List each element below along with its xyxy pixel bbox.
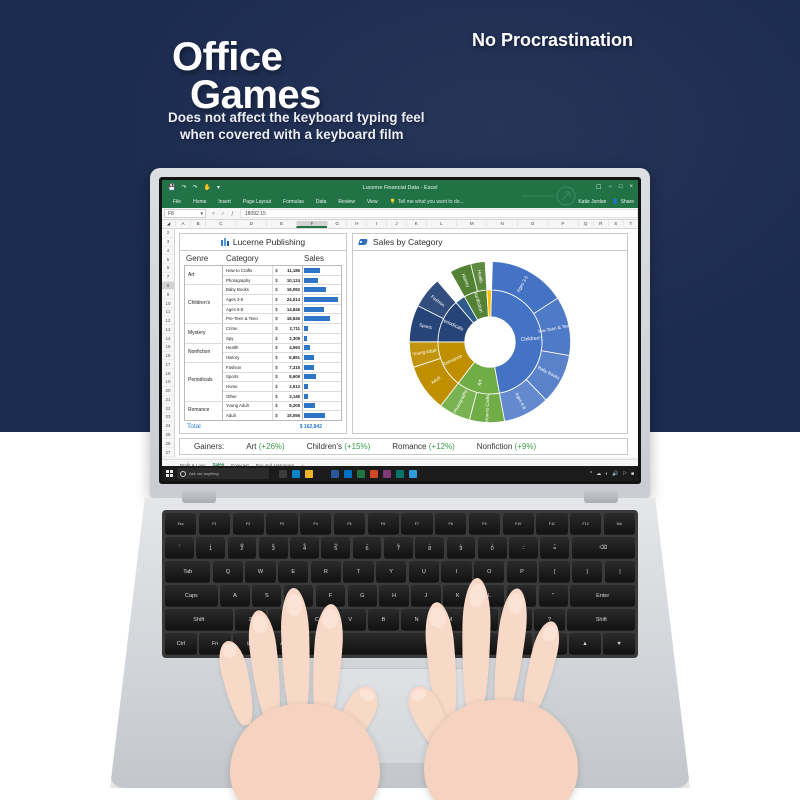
row-header-4[interactable]: 4 <box>162 247 174 256</box>
publishing-table-card: Lucerne Publishing Genre Category Sales … <box>179 233 347 434</box>
cell-genre: Periodicals <box>185 363 223 398</box>
cell-sales-value: 2,711 <box>280 324 303 333</box>
column-header-genre: Genre <box>184 254 226 263</box>
task-view-icon[interactable] <box>279 470 287 478</box>
row-header-6[interactable]: 6 <box>162 264 174 273</box>
key--0[interactable]: )0 <box>478 537 507 559</box>
word-icon[interactable] <box>331 470 339 478</box>
share-label: Share <box>621 199 634 205</box>
cell-databar <box>303 411 341 420</box>
databar-fill <box>304 374 316 379</box>
laptop-lid: 💾 ↷ ↷ ✋ ▾ Lucerne Financial Data - Excel… <box>150 168 650 498</box>
sunburst-chart-area: Children'sAges 3-5Pre-Teen & TeenBaby Bo… <box>353 251 627 433</box>
databar-fill <box>304 394 308 399</box>
column-header-b[interactable]: B <box>190 221 205 226</box>
databar-fill <box>304 326 308 331</box>
cell-currency: $ <box>273 266 280 275</box>
key--7[interactable]: &7 <box>384 537 413 559</box>
taskbar-app-icons[interactable] <box>279 470 417 478</box>
cell-databar <box>303 285 341 294</box>
cell-currency: $ <box>273 382 280 391</box>
cell-currency: $ <box>273 295 280 304</box>
key--9[interactable]: (9 <box>447 537 476 559</box>
key--5[interactable]: %5 <box>321 537 350 559</box>
volume-icon[interactable]: 🔊 <box>612 471 618 477</box>
insert-function-icon[interactable]: ƒ <box>231 211 234 217</box>
databar-fill <box>304 287 326 292</box>
onenote-icon[interactable] <box>383 470 391 478</box>
cell-databar <box>303 363 341 372</box>
cell-category: How-to Crafts <box>223 266 273 275</box>
databar-fill <box>304 384 308 389</box>
key-f1[interactable]: F1 <box>199 513 230 535</box>
row-header-18[interactable]: 18 <box>162 369 174 378</box>
cell-sales-value: 2,309 <box>280 334 303 343</box>
column-header-i[interactable]: I <box>366 221 386 226</box>
total-label: Total <box>187 423 225 430</box>
key-f8[interactable]: F8 <box>435 513 466 535</box>
gainer-name: Children's <box>307 442 345 451</box>
cell-databar <box>303 266 341 275</box>
sub-copy-line-1: Does not affect the keyboard typing feel <box>168 110 425 125</box>
cell-sales-value: 4,593 <box>280 344 303 353</box>
ribbon-tab-review[interactable]: Review <box>332 199 360 205</box>
cell-sales-value: 11,186 <box>280 266 303 275</box>
key-esc[interactable]: Esc <box>165 513 196 535</box>
worksheet-body: 2345678910111213141516171819202122232425… <box>162 229 638 457</box>
ribbon-tab-page-layout[interactable]: Page Layout <box>237 199 277 205</box>
databar-fill <box>304 336 307 341</box>
laptop-device: 💾 ↷ ↷ ✋ ▾ Lucerne Financial Data - Excel… <box>110 168 690 788</box>
keyboard-number-row[interactable]: ~`!1@2#3$4%5^6&7*8(9)0_-+=⌫ <box>165 537 635 559</box>
column-header-f[interactable]: F <box>296 221 326 228</box>
total-amount: 162,842 <box>304 424 322 430</box>
sub-copy: Does not affect the keyboard typing feel… <box>168 110 425 144</box>
outlook-icon[interactable] <box>344 470 352 478</box>
row-header-12[interactable]: 12 <box>162 317 174 326</box>
key-ctrl[interactable]: Ctrl <box>165 633 197 655</box>
row-header-13[interactable]: 13 <box>162 325 174 334</box>
cell-currency: $ <box>273 392 280 401</box>
decorative-arrow-graphic <box>520 183 580 209</box>
column-header-category: Category <box>226 254 283 263</box>
cell-sales-value: 10,124 <box>280 276 303 285</box>
row-header-22[interactable]: 22 <box>162 404 174 413</box>
table-row[interactable]: ArtHow-to Crafts$11,186 <box>185 266 341 276</box>
column-header-t[interactable]: T <box>623 221 638 226</box>
column-headers[interactable]: ABCDEFGHIJKLMNOPQRST <box>175 221 638 228</box>
sales-chart-card: Sales by Category Children'sAges 3-5Pre-… <box>352 233 628 434</box>
key-caps[interactable]: Caps <box>165 585 218 607</box>
sales-table-rows: ArtHow-to Crafts$11,186Photography$10,12… <box>184 265 342 421</box>
cell-currency: $ <box>273 334 280 343</box>
column-header-a[interactable]: A <box>175 221 190 226</box>
select-all-corner[interactable]: ◢ <box>162 221 175 227</box>
row-header-17[interactable]: 17 <box>162 360 174 369</box>
row-header-8[interactable]: 8 <box>162 282 174 291</box>
cell-currency: $ <box>273 373 280 382</box>
key-del[interactable]: Del <box>604 513 635 535</box>
cell-category: Crime <box>223 324 273 333</box>
cell-databar <box>303 305 341 314</box>
file-explorer-icon[interactable] <box>305 470 313 478</box>
row-header-14[interactable]: 14 <box>162 334 174 343</box>
gainers-label: Gainers: <box>194 442 224 451</box>
gainer-item: Children's (+15%) <box>307 442 371 451</box>
gainer-item: Romance (+12%) <box>392 442 454 451</box>
cell-category: Spy <box>223 334 273 343</box>
cell-currency: $ <box>273 353 280 362</box>
row-header-5[interactable]: 5 <box>162 255 174 264</box>
formula-bar-icons[interactable]: × ✓ ƒ <box>206 211 240 217</box>
left-hand <box>218 566 428 800</box>
databar-fill <box>304 316 330 321</box>
row-header-21[interactable]: 21 <box>162 396 174 405</box>
table-row[interactable]: MysteryCrime$2,711 <box>185 324 341 334</box>
user-name-label[interactable]: Katie Jordan <box>578 199 606 205</box>
column-header-row[interactable]: ◢ ABCDEFGHIJKLMNOPQRST <box>162 220 638 229</box>
key--2[interactable]: @2 <box>228 537 257 559</box>
key-tab[interactable]: Tab <box>165 561 210 583</box>
row-header-11[interactable]: 11 <box>162 308 174 317</box>
cell-sales-value: 3,146 <box>280 392 303 401</box>
cell-currency: $ <box>273 411 280 420</box>
cell-currency: $ <box>273 276 280 285</box>
onedrive-icon[interactable]: ☁ <box>596 471 601 477</box>
key--[interactable]: ⌫ <box>572 537 635 559</box>
column-header-r[interactable]: R <box>593 221 608 226</box>
column-header-m[interactable]: M <box>456 221 486 226</box>
powerpoint-icon[interactable] <box>370 470 378 478</box>
column-header-s[interactable]: S <box>608 221 623 226</box>
databar-fill <box>304 413 325 418</box>
ribbon-right-controls[interactable]: Katie Jordan 👤 Share <box>578 199 634 205</box>
row-header-3[interactable]: 3 <box>162 238 174 247</box>
sunburst-label: How-to Crafts <box>484 394 490 423</box>
windows-taskbar[interactable]: Ask me anything ^ ☁ ◐ 🔊 ⚐ ■ <box>162 466 638 481</box>
column-header-l[interactable]: L <box>426 221 456 226</box>
cell-category: Adult <box>223 411 273 420</box>
excel-icon[interactable] <box>357 470 365 478</box>
key--[interactable]: += <box>540 537 569 559</box>
row-header-20[interactable]: 20 <box>162 387 174 396</box>
cell-category: Home <box>223 382 273 391</box>
gainer-change: (+26%) <box>259 442 285 451</box>
window-controls[interactable]: ☐ − □ × <box>596 184 633 191</box>
column-header-d[interactable]: D <box>236 221 266 226</box>
battery-icon[interactable]: ■ <box>631 471 634 477</box>
databar-fill <box>304 345 310 350</box>
column-header-c[interactable]: C <box>205 221 235 226</box>
column-header-n[interactable]: N <box>486 221 516 226</box>
dashboard-panels: Lucerne Publishing Genre Category Sales … <box>179 233 628 434</box>
formula-bar-row[interactable]: F8 ▾ × ✓ ƒ 18092.15 <box>162 208 638 220</box>
table-row[interactable]: PeriodicalsFashion$7,315 <box>185 363 341 373</box>
sunburst-chart[interactable]: Children'sAges 3-5Pre-Teen & TeenBaby Bo… <box>404 258 576 426</box>
confirm-icon[interactable]: ✓ <box>221 211 225 217</box>
close-icon[interactable]: × <box>629 184 633 191</box>
key-f6[interactable]: F6 <box>368 513 399 535</box>
ribbon-tab-file[interactable]: File <box>167 199 187 205</box>
sub-copy-line-2: when covered with a keyboard film <box>168 127 425 144</box>
cell-genre: Mystery <box>185 324 223 341</box>
tagline-text: No Procrastination <box>472 30 633 51</box>
cell-currency: $ <box>273 363 280 372</box>
cell-category: History <box>223 353 273 362</box>
restore-icon[interactable]: □ <box>619 184 623 191</box>
key--3[interactable]: #3 <box>259 537 288 559</box>
ribbon-tab-view[interactable]: View <box>361 199 384 205</box>
databar-fill <box>304 297 338 302</box>
key-f2[interactable]: F2 <box>233 513 264 535</box>
cell-category: Ages 6-8 <box>223 305 273 314</box>
total-value: $ 162,842 <box>225 424 342 430</box>
cortana-icon <box>180 471 186 477</box>
sales-total-row: Total $ 162,842 <box>184 421 342 431</box>
databar-fill <box>304 268 320 273</box>
key-f5[interactable]: F5 <box>334 513 365 535</box>
gainer-change: (+15%) <box>344 442 370 451</box>
table-row[interactable]: Children'sBaby Books$16,092 <box>185 285 341 295</box>
column-header-sales: Sales <box>283 254 342 263</box>
screen-bezel: 💾 ↷ ↷ ✋ ▾ Lucerne Financial Data - Excel… <box>159 177 641 484</box>
column-header-e[interactable]: E <box>266 221 296 226</box>
key-f9[interactable]: F9 <box>469 513 500 535</box>
network-icon[interactable]: ◐ <box>605 471 608 477</box>
cell-category: Fashion <box>223 363 273 372</box>
cell-sales-value: 14,846 <box>280 305 303 314</box>
right-hand <box>410 558 630 800</box>
tell-me-label: Tell me what you want to do... <box>398 199 464 205</box>
share-button[interactable]: 👤 Share <box>612 199 634 205</box>
minimize-icon[interactable]: − <box>608 184 612 191</box>
cell-currency: $ <box>273 305 280 314</box>
gainer-name: Romance <box>392 442 428 451</box>
cell-currency: $ <box>273 344 280 353</box>
row-header-25[interactable]: 25 <box>162 431 174 440</box>
cell-databar <box>303 382 341 391</box>
cell-currency: $ <box>273 314 280 323</box>
column-header-h[interactable]: H <box>346 221 366 226</box>
key-f12[interactable]: F12 <box>570 513 601 535</box>
photos-icon[interactable] <box>409 470 417 478</box>
lightbulb-icon: 💡 <box>390 199 396 205</box>
key--8[interactable]: *8 <box>415 537 444 559</box>
cell-databar <box>303 334 341 343</box>
cell-currency: $ <box>273 285 280 294</box>
table-row[interactable]: RomanceYoung Adult$8,205 <box>185 402 341 412</box>
total-currency: $ <box>300 424 303 430</box>
column-header-p[interactable]: P <box>547 221 577 226</box>
cell-databar <box>303 295 341 304</box>
laptop-screen: 💾 ↷ ↷ ✋ ▾ Lucerne Financial Data - Excel… <box>162 180 638 481</box>
row-header-15[interactable]: 15 <box>162 343 174 352</box>
chart-card-title: Sales by Category <box>353 234 627 251</box>
cell-databar <box>303 314 341 323</box>
ribbon-tab-home[interactable]: Home <box>187 199 212 205</box>
databar-fill <box>304 307 324 312</box>
key--[interactable]: _- <box>509 537 538 559</box>
key--4[interactable]: $4 <box>290 537 319 559</box>
ribbon-tab-insert[interactable]: Insert <box>212 199 237 205</box>
cell-genre: Children's <box>185 285 223 320</box>
cell-databar <box>303 402 341 411</box>
cell-sales-value: 18,846 <box>280 314 303 323</box>
row-header-16[interactable]: 16 <box>162 352 174 361</box>
gainers-bar: Gainers: Art (+26%)Children's (+15%)Roma… <box>179 438 628 455</box>
headline-line-1: Office <box>172 38 321 76</box>
cell-category: Ages 3-5 <box>223 295 273 304</box>
column-header-k[interactable]: K <box>406 221 426 226</box>
cell-genre: Art <box>185 266 223 283</box>
cell-currency: $ <box>273 402 280 411</box>
cancel-icon[interactable]: × <box>212 211 215 217</box>
cell-category: Photography <box>223 276 273 285</box>
formula-value: 18092.15 <box>245 211 266 217</box>
name-box-value: F8 <box>168 211 174 217</box>
action-center-icon[interactable]: ⚐ <box>622 471 626 477</box>
key-f4[interactable]: F4 <box>300 513 331 535</box>
ribbon-tab-data[interactable]: Data <box>310 199 333 205</box>
cell-sales-value: 8,609 <box>280 373 303 382</box>
cell-genre: Nonfiction <box>185 344 223 361</box>
cell-sales-value: 16,092 <box>280 285 303 294</box>
edge-icon[interactable] <box>292 470 300 478</box>
row-header-10[interactable]: 10 <box>162 299 174 308</box>
column-header-j[interactable]: J <box>386 221 406 226</box>
row-header-7[interactable]: 7 <box>162 273 174 282</box>
gainer-name: Art <box>246 442 258 451</box>
cell-sales-value: 24,514 <box>280 295 303 304</box>
cell-genre: Romance <box>185 402 223 419</box>
ribbon-tab-formulas[interactable]: Formulas <box>277 199 310 205</box>
books-logo-icon <box>221 238 229 246</box>
column-header-o[interactable]: O <box>517 221 547 226</box>
cell-databar <box>303 373 341 382</box>
cell-category: Health <box>223 344 273 353</box>
cell-databar <box>303 353 341 362</box>
key-f3[interactable]: F3 <box>266 513 297 535</box>
name-box[interactable]: F8 ▾ <box>164 209 206 218</box>
gainer-name: Nonfiction <box>477 442 515 451</box>
store-icon[interactable] <box>318 470 326 478</box>
cell-currency: $ <box>273 324 280 333</box>
cell-sales-value: 2,612 <box>280 382 303 391</box>
key--1[interactable]: !1 <box>196 537 225 559</box>
row-header-24[interactable]: 24 <box>162 422 174 431</box>
databar-fill <box>304 355 314 360</box>
databar-fill <box>304 403 315 408</box>
page-title: Office Games <box>172 38 321 115</box>
column-header-q[interactable]: Q <box>578 221 593 226</box>
table-card-title-text: Lucerne Publishing <box>233 237 305 247</box>
cell-sales-value: 6,891 <box>280 353 303 362</box>
tell-me-search[interactable]: 💡 Tell me what you want to do... <box>384 199 464 205</box>
key-f11[interactable]: F11 <box>536 513 567 535</box>
worksheet-canvas: Lucerne Publishing Genre Category Sales … <box>175 229 638 457</box>
row-header-23[interactable]: 23 <box>162 413 174 422</box>
formula-input[interactable]: 18092.15 <box>240 209 638 218</box>
row-header-19[interactable]: 19 <box>162 378 174 387</box>
gainer-change: (+12%) <box>429 442 455 451</box>
laptop-hinge-left <box>182 490 216 503</box>
cell-databar <box>303 276 341 285</box>
cell-sales-value: 8,205 <box>280 402 303 411</box>
tag-icon <box>359 238 368 246</box>
cell-sales-value: 15,056 <box>280 411 303 420</box>
cell-category: Sports <box>223 373 273 382</box>
row-header-column[interactable]: 2345678910111213141516171819202122232425… <box>162 229 175 457</box>
cell-category: Pre-Teen & Teen <box>223 314 273 323</box>
gainer-change: (+9%) <box>515 442 537 451</box>
key--[interactable]: ~` <box>165 537 194 559</box>
cell-sales-value: 7,315 <box>280 363 303 372</box>
excel-ribbon-tabs[interactable]: File Home Insert Page Layout Formulas Da… <box>162 195 638 208</box>
gainer-item: Art (+26%) <box>246 442 284 451</box>
row-header-26[interactable]: 26 <box>162 439 174 448</box>
cell-databar <box>303 344 341 353</box>
cell-category: Young Adult <box>223 402 273 411</box>
cell-databar <box>303 392 341 401</box>
publisher-icon[interactable] <box>396 470 404 478</box>
databar-fill <box>304 278 318 283</box>
name-box-chevron-down-icon[interactable]: ▾ <box>200 211 203 217</box>
cell-category: Other <box>223 392 273 401</box>
chart-title-text: Sales by Category <box>373 237 442 247</box>
key--6[interactable]: ^6 <box>353 537 382 559</box>
table-card-title: Lucerne Publishing <box>180 234 346 251</box>
cell-databar <box>303 324 341 333</box>
search-placeholder: Ask me anything <box>189 471 219 476</box>
start-button-icon[interactable] <box>166 470 173 477</box>
keyboard-function-row[interactable]: EscF1F2F3F4F5F6F7F8F9F10F11F12Del <box>165 513 635 535</box>
share-person-icon: 👤 <box>612 199 618 205</box>
ribbon-display-icon[interactable]: ☐ <box>596 184 601 191</box>
key-f7[interactable]: F7 <box>401 513 432 535</box>
column-header-g[interactable]: G <box>327 221 347 226</box>
show-hidden-icon[interactable]: ^ <box>590 471 592 477</box>
gainer-item: Nonfiction (+9%) <box>477 442 536 451</box>
system-tray[interactable]: ^ ☁ ◐ 🔊 ⚐ ■ <box>590 471 634 477</box>
sales-table-header: Genre Category Sales <box>184 254 342 265</box>
sales-table: Genre Category Sales ArtHow-to Crafts$11… <box>180 251 346 433</box>
key-f10[interactable]: F10 <box>503 513 534 535</box>
table-row[interactable]: NonfictionHealth$4,593 <box>185 344 341 354</box>
row-header-2[interactable]: 2 <box>162 229 174 238</box>
laptop-hinge-right <box>584 490 618 503</box>
row-header-27[interactable]: 27 <box>162 448 174 457</box>
cell-category: Baby Books <box>223 285 273 294</box>
databar-fill <box>304 365 314 370</box>
row-header-9[interactable]: 9 <box>162 290 174 299</box>
search-input[interactable]: Ask me anything <box>177 468 269 479</box>
